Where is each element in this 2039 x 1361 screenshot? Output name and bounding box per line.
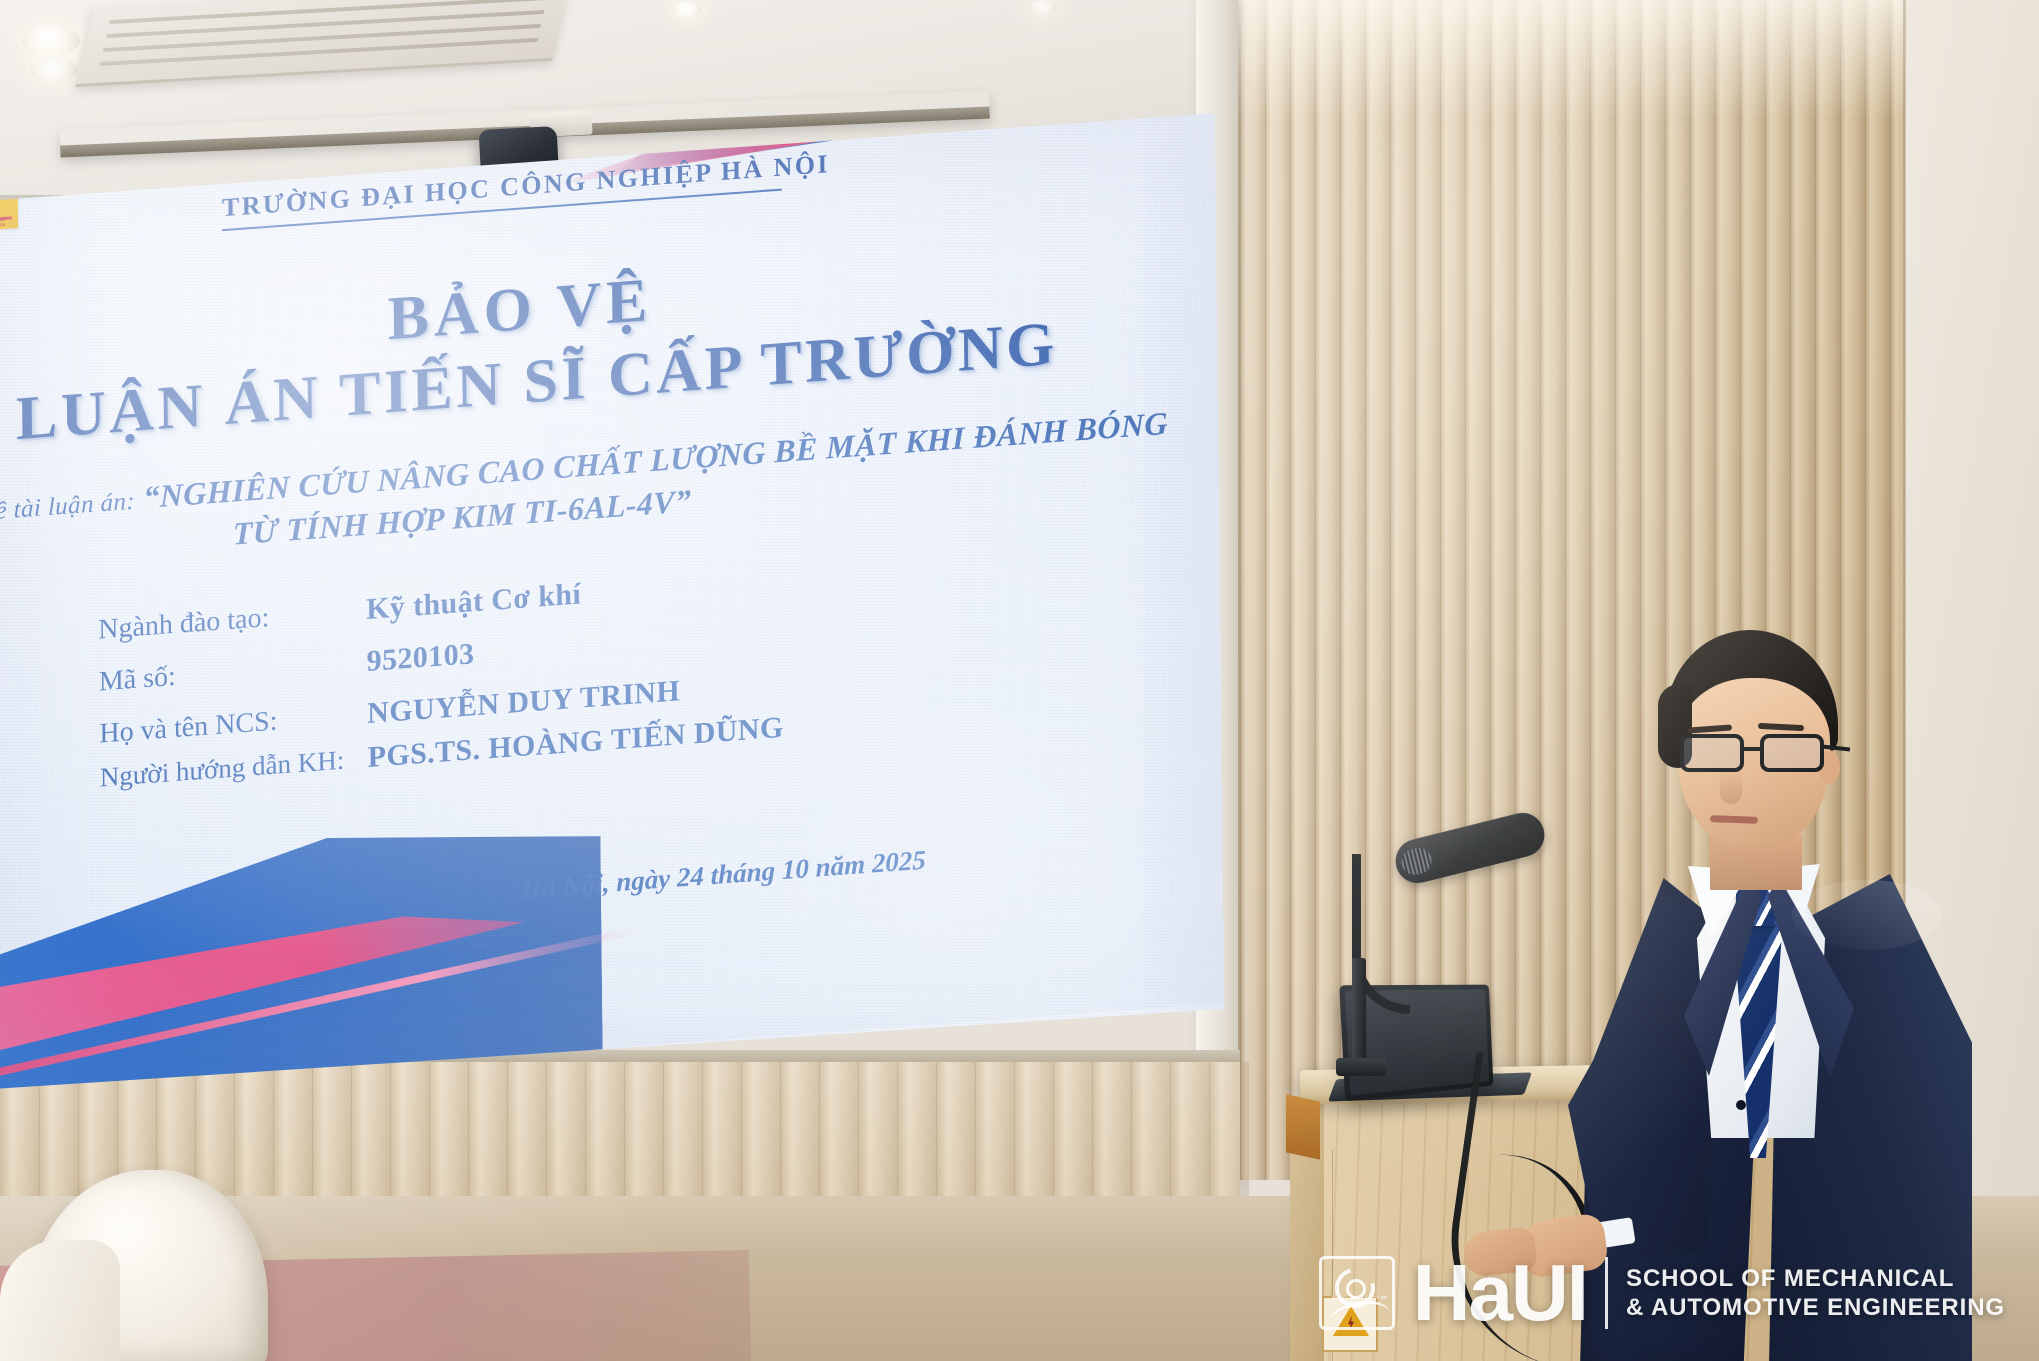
watermark-division: SCHOOL OF MECHANICAL & AUTOMOTIVE ENGINE…: [1626, 1264, 2005, 1323]
presenter-nose: [1720, 770, 1742, 804]
wall-slat: [1240, 0, 1266, 1180]
eyeglasses-icon: [1672, 734, 1840, 774]
ceiling-light-icon: [1030, 0, 1056, 14]
wall-slat: [1490, 0, 1516, 1180]
shoulder-highlight: [1792, 880, 1942, 950]
wall-slat: [1315, 0, 1341, 1180]
chair-armrest: [0, 1240, 120, 1361]
ceiling-light-icon: [22, 26, 80, 56]
info-value: 9520103: [366, 637, 474, 679]
info-key: Người hướng dẫn KH:: [100, 743, 368, 793]
info-key: Ngành đào tạo:: [98, 595, 366, 646]
projection-surface: DAI HOC CONG NGHIEP HA NOI TRƯỜNG ĐẠI HỌ…: [0, 101, 1225, 1094]
info-value: Kỹ thuật Cơ khí: [366, 577, 581, 627]
slide-info-table: Ngành đào tạo: Kỹ thuật Cơ khí Mã số: 95…: [98, 550, 959, 812]
projection-screen: DAI HOC CONG NGHIEP HA NOI TRƯỜNG ĐẠI HỌ…: [0, 101, 1225, 1094]
presentation-slide: DAI HOC CONG NGHIEP HA NOI TRƯỜNG ĐẠI HỌ…: [0, 101, 1224, 1094]
ceiling-light-icon: [30, 58, 78, 82]
info-key: Mã số:: [99, 647, 367, 698]
slide-university-name: TRƯỜNG ĐẠI HỌC CÔNG NGHIỆP HÀ NỘI: [222, 153, 782, 232]
slide-headline: BẢO VỆ LUẬN ÁN TIẾN SĨ CẤP TRƯỜNG: [15, 242, 1026, 456]
badge-caption: HANOI UNIVERSITY OF INDUSTRY: [1326, 1295, 1394, 1305]
watermark-brand: HaUI: [1413, 1258, 1587, 1328]
microphone-base: [1336, 1058, 1386, 1076]
watermark-logo: HANOI UNIVERSITY OF INDUSTRY HaUI SCHOOL…: [1319, 1241, 2005, 1345]
wall-slat: [1265, 0, 1291, 1180]
wall-slat: [1515, 0, 1541, 1180]
podium-corner-trim: [1286, 1094, 1320, 1159]
slide-place-date: Hà Nội, ngày 24 tháng 10 năm 2025: [521, 836, 1041, 905]
ceiling-light-icon: [672, 2, 702, 18]
slide-text-content: TRƯỜNG ĐẠI HỌC CÔNG NGHIỆP HÀ NỘI BẢO VỆ…: [0, 101, 1224, 1094]
suit-button: [1736, 1100, 1746, 1110]
watermark-division-line2: & AUTOMOTIVE ENGINEERING: [1626, 1293, 2005, 1322]
wall-slat: [1290, 0, 1316, 1180]
microphone-stem: [1352, 958, 1366, 1068]
watermark-division-line1: SCHOOL OF MECHANICAL: [1626, 1264, 2005, 1293]
thesis-title-label: Đề tài luận án:: [0, 488, 135, 526]
watermark-divider: [1605, 1257, 1608, 1329]
haui-badge-icon: HANOI UNIVERSITY OF INDUSTRY: [1319, 1256, 1395, 1330]
screenshot-root: DAI HOC CONG NGHIEP HA NOI TRƯỜNG ĐẠI HỌ…: [0, 0, 2039, 1361]
info-key: Họ và tên NCS:: [99, 699, 367, 750]
